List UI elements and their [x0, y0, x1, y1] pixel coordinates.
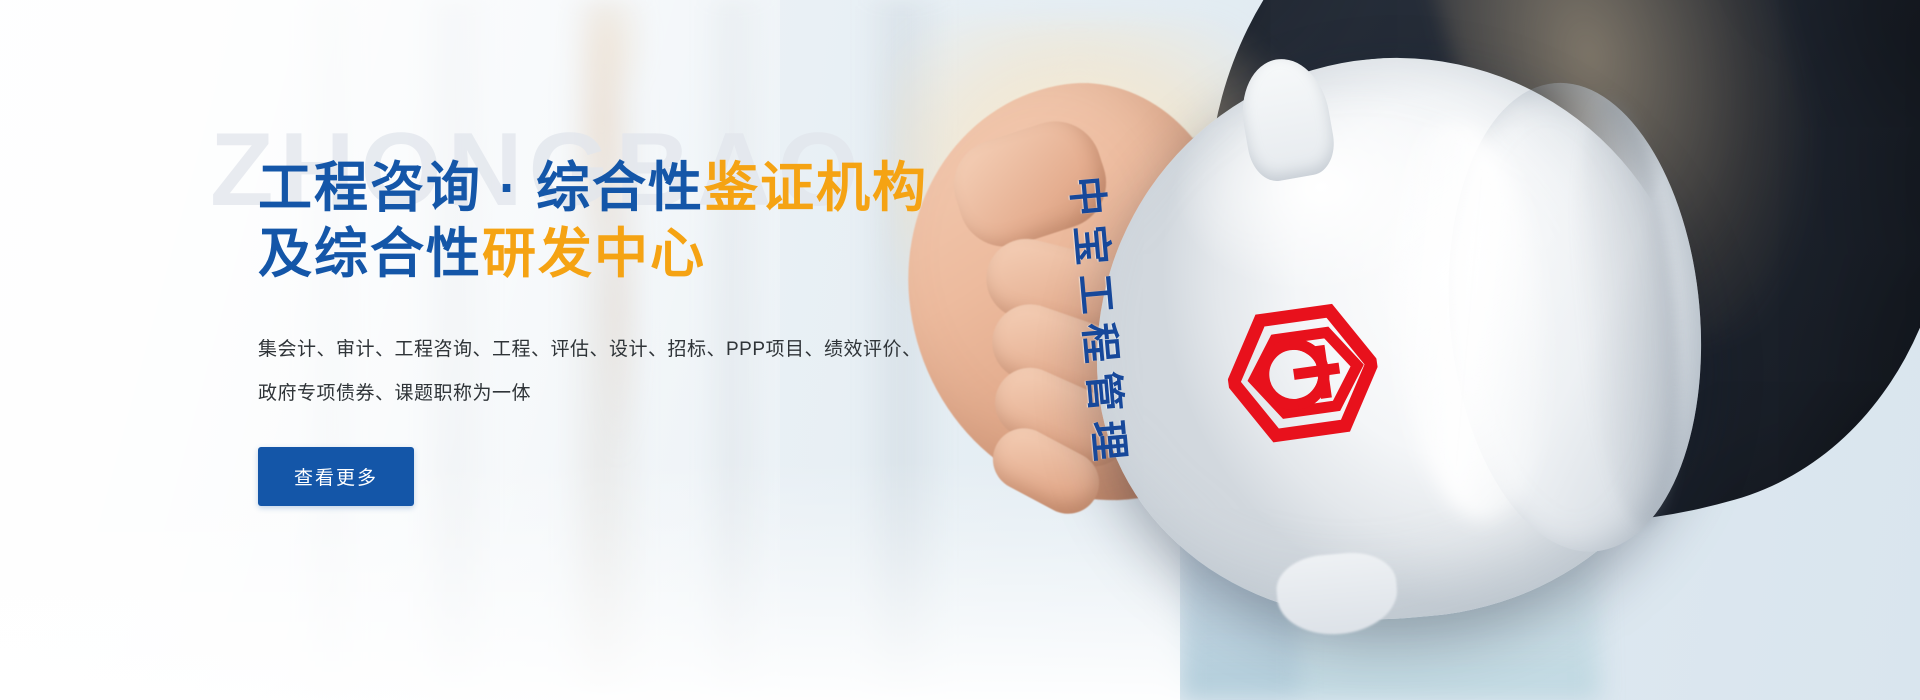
headline-line-2: 及综合性研发中心: [258, 222, 1078, 288]
headline-line-1-accent: 鉴证机构: [704, 158, 928, 218]
headline-line-2-accent: 研发中心: [482, 224, 706, 284]
headline-line-1-primary: 工程咨询 · 综合性: [258, 158, 704, 218]
hero-content: ZHONGBAO 工程咨询 · 综合性鉴证机构 及综合性研发中心 集会计、审计、…: [258, 118, 1078, 506]
hero-banner: 中宝工程管理 ZHONGBAO 工程咨询 · 综合性鉴证机构 及综合性研发中心 …: [0, 0, 1920, 700]
helmet-vent: [1274, 549, 1401, 639]
headline-line-2-primary: 及综合性: [258, 224, 482, 284]
zhongbao-hexagon-logo-icon: [1219, 296, 1386, 450]
headline: 工程咨询 · 综合性鉴证机构 及综合性研发中心: [258, 156, 1078, 288]
description-line-2: 政府专项债券、课题职称为一体: [258, 372, 1078, 417]
description: 集会计、审计、工程咨询、工程、评估、设计、招标、PPP项目、绩效评价、 政府专项…: [258, 328, 1078, 417]
headline-line-1: 工程咨询 · 综合性鉴证机构: [258, 156, 1078, 222]
description-line-1: 集会计、审计、工程咨询、工程、评估、设计、招标、PPP项目、绩效评价、: [258, 328, 1078, 373]
view-more-button[interactable]: 查看更多: [258, 447, 414, 506]
